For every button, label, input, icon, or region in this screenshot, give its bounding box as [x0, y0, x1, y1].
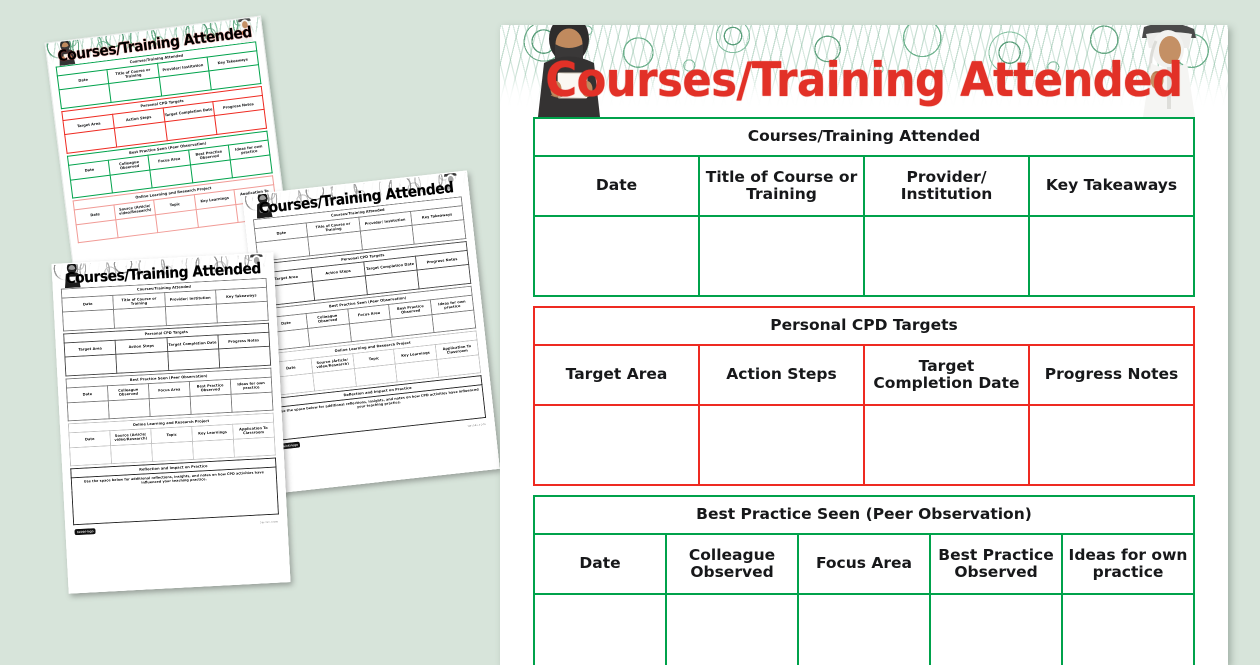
- worksheet-body: Courses/Training Attended Date Title of …: [246, 195, 494, 453]
- entry-cell[interactable]: [216, 302, 268, 323]
- col-header-focus-area: Focus Area: [798, 534, 930, 594]
- entry-cell[interactable]: [116, 352, 168, 373]
- entry-cell[interactable]: [165, 304, 217, 325]
- col-header-action-steps: Action Steps: [699, 345, 864, 405]
- section-courses-training-attended: Courses/Training Attended Date Title of …: [533, 117, 1195, 297]
- worksheet-body: Courses/Training Attended Date Title of …: [500, 117, 1228, 665]
- entry-cell[interactable]: [70, 445, 112, 465]
- col-header-date: Date: [534, 534, 666, 594]
- section-personal-cpd-targets: Personal CPD Targets Target Area Action …: [533, 306, 1195, 486]
- col-header-target-completion-date: Target Completion Date: [864, 345, 1029, 405]
- footer-code: twinkl.com: [260, 519, 278, 524]
- col-header-provider: Provider/ Institution: [864, 156, 1029, 216]
- entry-cell[interactable]: [116, 214, 158, 237]
- worksheet-thumbnail-blackwhite-full[interactable]: Courses/Training Attended Courses/Traini…: [52, 252, 291, 593]
- entry-cell[interactable]: [76, 219, 118, 242]
- entry-cell[interactable]: [65, 355, 117, 376]
- col-header-date: Date: [534, 156, 699, 216]
- entry-cell[interactable]: [167, 349, 219, 370]
- entry-cell[interactable]: [233, 437, 275, 457]
- entry-cell[interactable]: [864, 216, 1029, 296]
- entry-cell[interactable]: [114, 307, 166, 328]
- col-header-progress-notes: Progress Notes: [1029, 345, 1194, 405]
- footer-code: twinkl.com: [467, 422, 486, 428]
- entry-cell[interactable]: [699, 216, 864, 296]
- section-band-label: Courses/Training Attended: [534, 118, 1194, 156]
- entry-cell[interactable]: [149, 396, 191, 416]
- twinkl-logo: twinkl-logo: [74, 528, 96, 535]
- col-header-best-practice-observed: Best Practice Observed: [930, 534, 1062, 594]
- entry-cell[interactable]: [864, 405, 1029, 485]
- entry-cell[interactable]: [196, 204, 238, 227]
- entry-cell[interactable]: [111, 443, 153, 463]
- entry-cell[interactable]: [156, 209, 198, 232]
- entry-cell[interactable]: [231, 392, 273, 412]
- col-header-ideas-own-practice: Ideas for own practice: [1062, 534, 1194, 594]
- worksheet-main-preview[interactable]: Courses/Training Attended Courses/Traini…: [500, 25, 1228, 665]
- sheet-header: Courses/Training Attended: [500, 25, 1228, 117]
- section-band-label: Personal CPD Targets: [534, 307, 1194, 345]
- entry-cell[interactable]: [67, 400, 109, 420]
- entry-cell[interactable]: [152, 441, 194, 461]
- entry-cell[interactable]: [1029, 216, 1194, 296]
- entry-cell[interactable]: [192, 439, 234, 459]
- worksheet-body: Courses/Training Attended Date Title of …: [54, 277, 287, 539]
- page-title: Courses/Training Attended: [529, 25, 1199, 117]
- col-header-target-area: Target Area: [534, 345, 699, 405]
- section-best-practice-seen: Best Practice Seen (Peer Observation) Da…: [533, 495, 1195, 665]
- col-header-key-takeaways: Key Takeaways: [1029, 156, 1194, 216]
- entry-cell[interactable]: [218, 347, 270, 368]
- entry-cell[interactable]: [108, 398, 150, 418]
- col-header-colleague-observed: Colleague Observed: [666, 534, 798, 594]
- entry-cell[interactable]: [63, 310, 115, 331]
- entry-cell[interactable]: [1029, 405, 1194, 485]
- col-header-title-of-course: Title of Course or Training: [699, 156, 864, 216]
- entry-cell[interactable]: [699, 405, 864, 485]
- entry-cell[interactable]: [534, 405, 699, 485]
- entry-cell[interactable]: [190, 394, 232, 414]
- entry-cell[interactable]: [534, 216, 699, 296]
- section-band-label: Best Practice Seen (Peer Observation): [534, 496, 1194, 534]
